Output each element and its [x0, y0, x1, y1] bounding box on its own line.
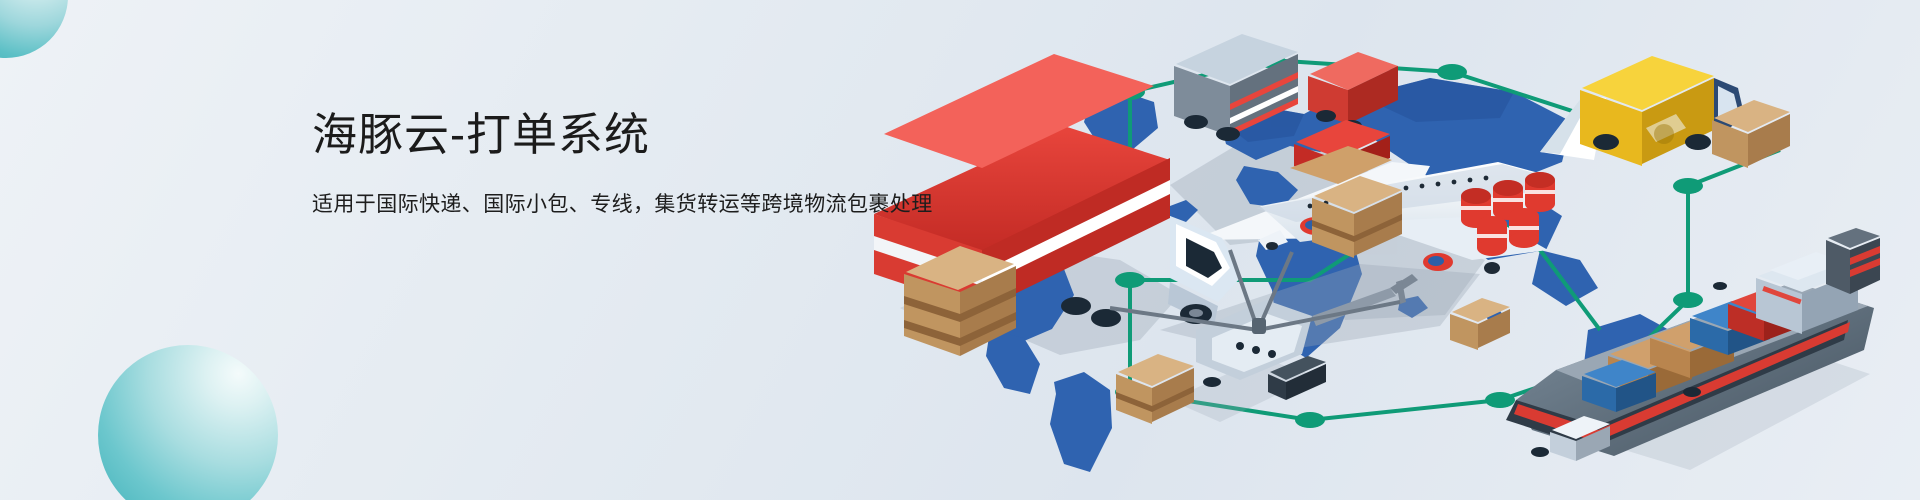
banner-headline: 海豚云-打单系统 [312, 108, 933, 161]
decorative-sphere-top-left [0, 0, 68, 58]
cardboard-boxes-ship [1450, 298, 1510, 350]
global-logistics-illustration [840, 0, 1920, 500]
banner-copy: 海豚云-打单系统 适用于国际快递、国际小包、专线，集货转运等跨境物流包裹处理 [312, 108, 933, 219]
decorative-sphere-bottom-left [98, 345, 278, 500]
cardboard-boxes-helicopter [1116, 354, 1194, 424]
banner-subheadline: 适用于国际快递、国际小包、专线，集货转运等跨境物流包裹处理 [312, 190, 933, 219]
promo-banner: 海豚云-打单系统 适用于国际快递、国际小包、专线，集货转运等跨境物流包裹处理 [0, 0, 1920, 500]
